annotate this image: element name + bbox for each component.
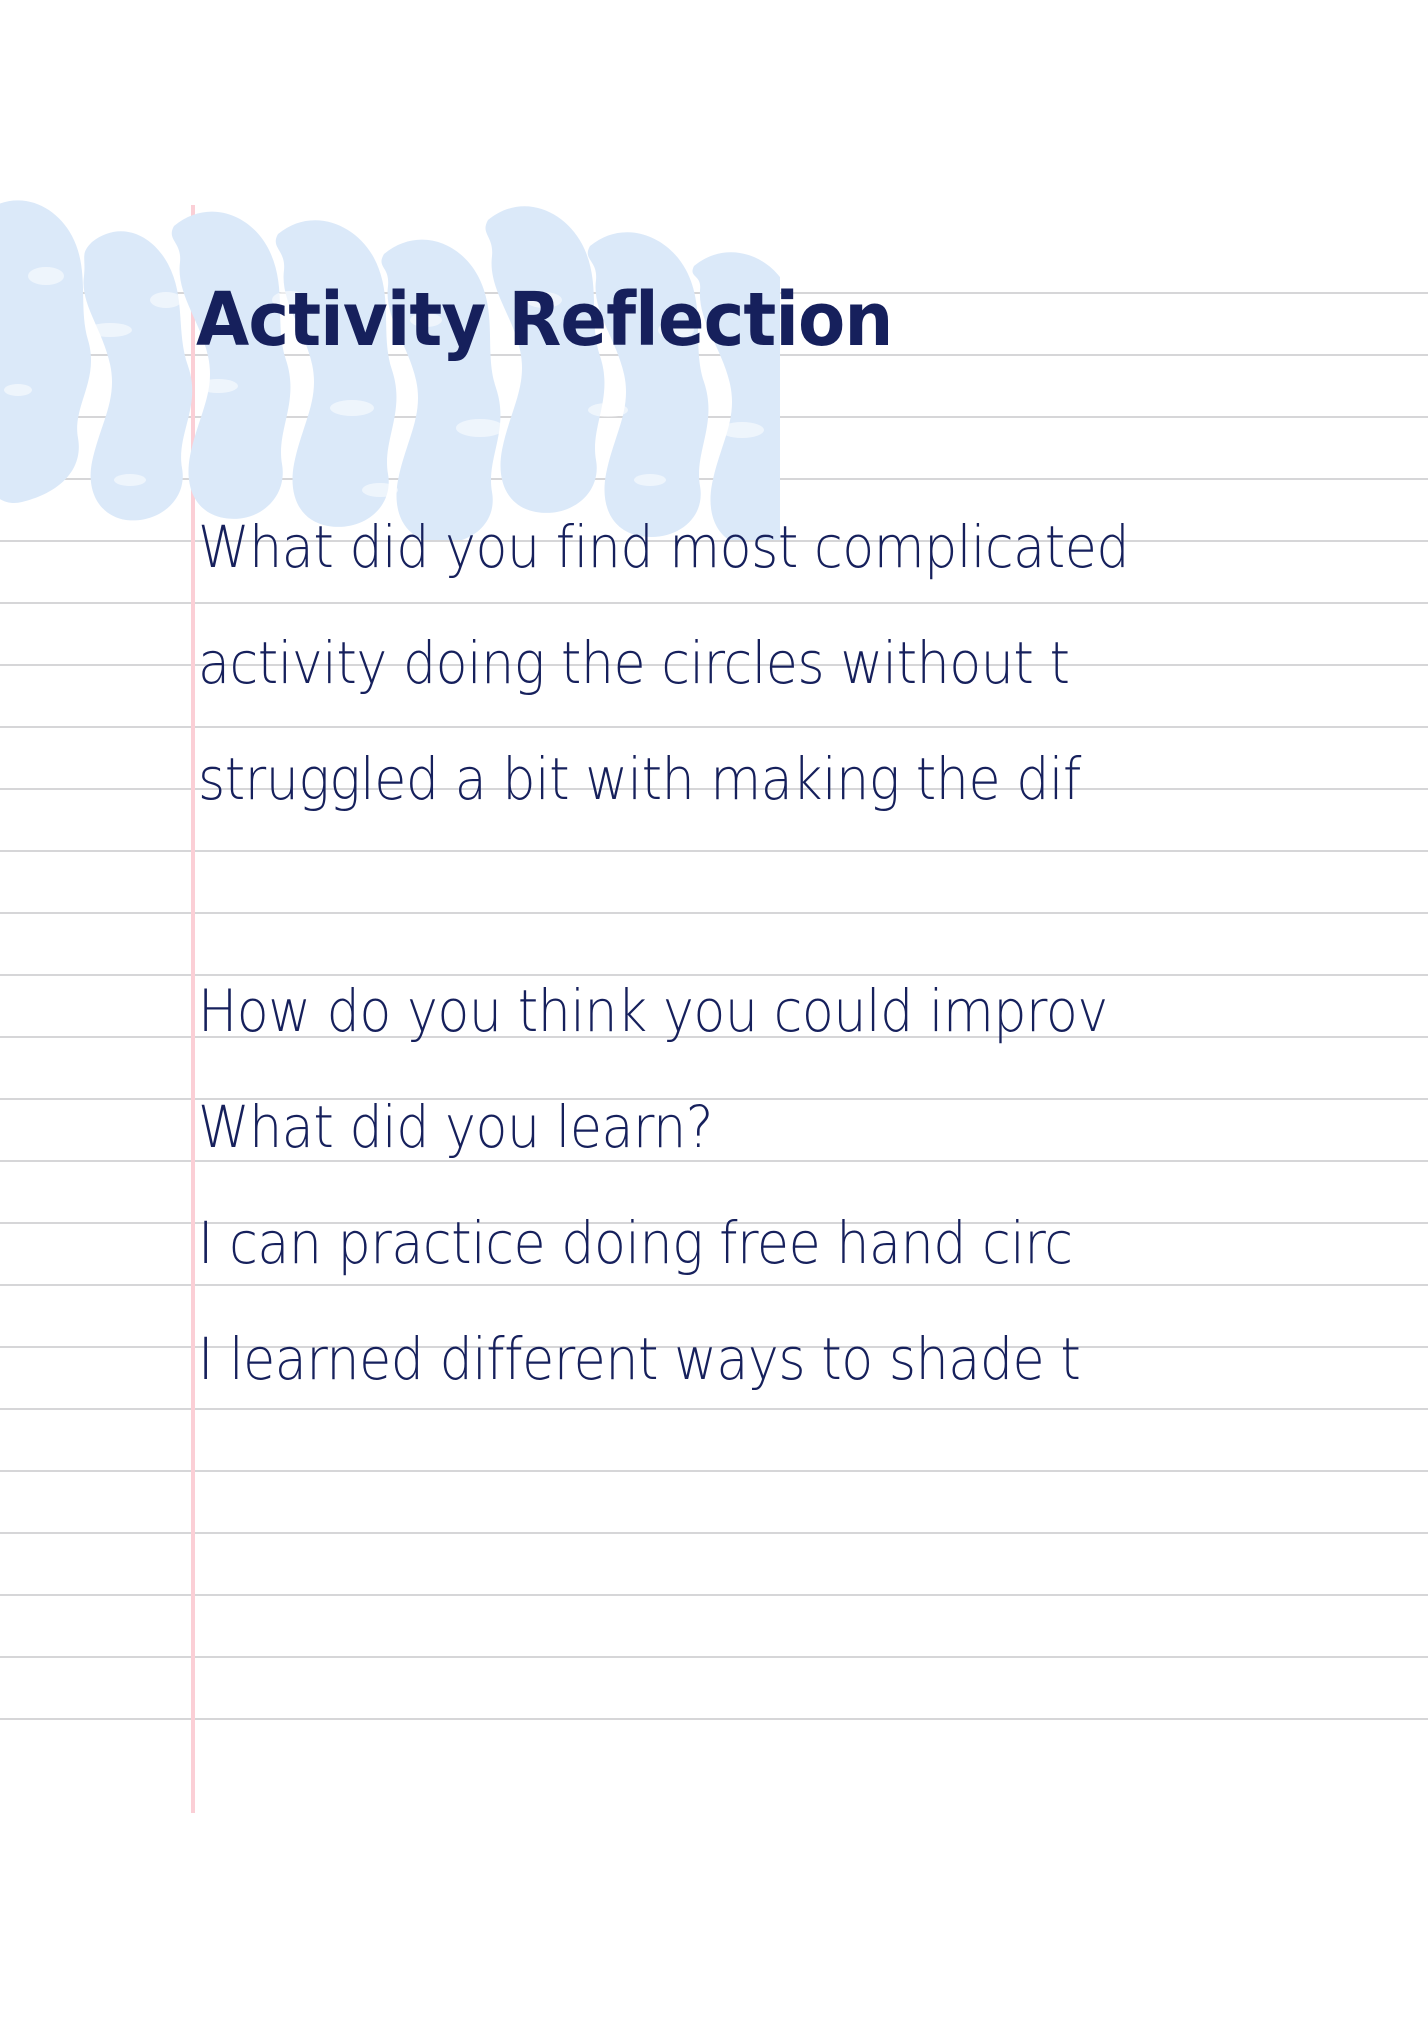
page-title: Activity Reflection: [196, 283, 892, 357]
reflection-answers: What did you find most complicated activ…: [198, 489, 1428, 1417]
reflection-line-5: How do you think you could improv: [198, 953, 1359, 1069]
reflection-line-8: I learned different ways to shade t: [198, 1301, 1359, 1417]
worksheet-content: Activity Reflection What did you find mo…: [196, 0, 1428, 2018]
reflection-line-3: struggled a bit with making the dif: [198, 721, 1359, 837]
reflection-line-2: activity doing the circles without t: [198, 605, 1359, 721]
reflection-line-4-blank: [198, 837, 1359, 953]
margin-rule-line: [191, 205, 195, 1813]
reflection-line-6: What did you learn?: [198, 1069, 1359, 1185]
reflection-line-1: What did you find most complicated: [198, 489, 1359, 605]
reflection-line-7: I can practice doing free hand circ: [198, 1185, 1359, 1301]
worksheet-page: Activity Reflection What did you find mo…: [0, 0, 1428, 2018]
